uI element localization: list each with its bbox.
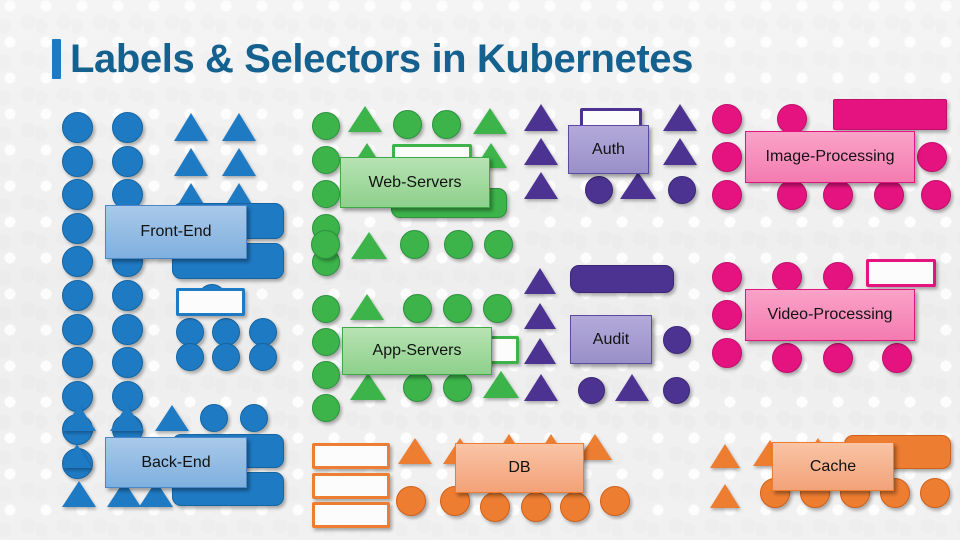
pink-circle-shape — [882, 343, 912, 373]
pink-circle-shape — [772, 343, 802, 373]
label-card-text: Back-End — [141, 454, 210, 472]
pink-circle-shape — [917, 142, 947, 172]
label-card-front-end[interactable]: Front-End — [105, 205, 247, 259]
blue-circle-shape — [176, 318, 204, 346]
label-card-text: Audit — [593, 331, 629, 349]
blue-circle-shape — [112, 146, 143, 177]
blue-circle-shape — [176, 343, 204, 371]
orange-outlined-rect-shape — [312, 473, 390, 499]
purple-triangle-shape — [663, 138, 697, 165]
orange-outlined-rect-shape — [312, 502, 390, 528]
blue-circle-shape — [62, 179, 93, 210]
pink-circle-shape — [712, 180, 742, 210]
green-circle-shape — [400, 230, 429, 259]
orange-circle-shape — [600, 486, 630, 516]
green-circle-shape — [444, 230, 473, 259]
blue-circle-shape — [249, 343, 277, 371]
blue-circle-shape — [112, 347, 143, 378]
purple-triangle-shape — [524, 268, 556, 294]
pink-circle-shape — [712, 338, 742, 368]
purple-circle-shape — [585, 176, 613, 204]
label-card-db[interactable]: DB — [455, 443, 584, 493]
green-circle-shape — [312, 295, 340, 323]
label-card-web-servers[interactable]: Web-Servers — [340, 157, 490, 208]
pink-circle-shape — [772, 262, 802, 292]
purple-circle-shape — [578, 377, 605, 404]
pink-circle-shape — [712, 142, 742, 172]
slide-canvas: Labels & Selectors in Kubernetes Front-E… — [0, 0, 960, 540]
green-circle-shape — [443, 373, 472, 402]
purple-circle-shape — [668, 176, 696, 204]
label-card-cache[interactable]: Cache — [772, 442, 894, 491]
blue-circle-shape — [62, 146, 93, 177]
green-circle-shape — [484, 230, 513, 259]
orange-circle-shape — [920, 478, 950, 508]
orange-circle-shape — [521, 492, 551, 522]
pink-circle-shape — [712, 104, 742, 134]
label-card-app-servers[interactable]: App-Servers — [342, 327, 492, 375]
pink-circle-shape — [823, 343, 853, 373]
label-card-auth[interactable]: Auth — [568, 125, 649, 174]
blue-circle-shape — [112, 280, 143, 311]
label-card-text: App-Servers — [373, 342, 462, 360]
green-circle-shape — [312, 394, 340, 422]
purple-triangle-shape — [524, 303, 556, 329]
orange-triangle-shape — [398, 438, 432, 464]
purple-filled-rect-shape — [570, 265, 674, 293]
green-circle-shape — [393, 110, 422, 139]
pink-circle-shape — [823, 180, 853, 210]
blue-circle-shape — [200, 404, 228, 432]
label-card-image-processing[interactable]: Image-Processing — [745, 131, 915, 183]
blue-circle-shape — [62, 112, 93, 143]
orange-outlined-rect-shape — [312, 443, 390, 469]
blue-circle-shape — [62, 246, 93, 277]
purple-triangle-shape — [524, 374, 558, 401]
blue-triangle-shape — [62, 405, 96, 431]
pink-circle-shape — [921, 180, 951, 210]
blue-outlined-rect-shape — [176, 288, 245, 316]
blue-circle-shape — [240, 404, 268, 432]
blue-circle-shape — [249, 318, 277, 346]
green-circle-shape — [312, 361, 340, 389]
pink-circle-shape — [712, 300, 742, 330]
blue-circle-shape — [62, 213, 93, 244]
title-text: Labels & Selectors in Kubernetes — [70, 39, 693, 79]
page-title: Labels & Selectors in Kubernetes — [52, 31, 912, 87]
pink-circle-shape — [777, 180, 807, 210]
blue-circle-shape — [62, 314, 93, 345]
purple-triangle-shape — [615, 374, 649, 401]
label-card-text: Image-Processing — [766, 148, 895, 166]
blue-circle-shape — [62, 347, 93, 378]
green-triangle-shape — [351, 232, 387, 259]
green-circle-shape — [311, 230, 340, 259]
orange-circle-shape — [396, 486, 426, 516]
purple-triangle-shape — [524, 104, 558, 131]
orange-triangle-shape — [710, 444, 740, 468]
purple-triangle-shape — [524, 338, 556, 364]
blue-triangle-shape — [222, 113, 256, 141]
blue-triangle-shape — [222, 148, 256, 176]
title-accent-bar — [52, 39, 61, 79]
pink-circle-shape — [777, 104, 807, 134]
label-card-text: Auth — [592, 141, 625, 159]
blue-triangle-shape — [62, 444, 92, 468]
label-card-text: DB — [508, 459, 530, 477]
pink-outlined-rect-shape — [866, 259, 936, 287]
blue-circle-shape — [212, 318, 240, 346]
green-triangle-shape — [350, 373, 386, 400]
green-triangle-shape — [350, 294, 384, 320]
green-triangle-shape — [348, 106, 382, 132]
purple-circle-shape — [663, 326, 691, 354]
green-circle-shape — [312, 328, 340, 356]
blue-triangle-shape — [174, 113, 208, 141]
orange-circle-shape — [480, 492, 510, 522]
green-circle-shape — [403, 294, 432, 323]
green-triangle-shape — [473, 108, 507, 134]
label-card-back-end[interactable]: Back-End — [105, 437, 247, 488]
label-card-text: Cache — [810, 458, 856, 476]
purple-triangle-shape — [524, 138, 558, 165]
blue-triangle-shape — [62, 481, 96, 507]
purple-triangle-shape — [663, 104, 697, 131]
purple-circle-shape — [663, 377, 690, 404]
green-circle-shape — [443, 294, 472, 323]
green-circle-shape — [483, 294, 512, 323]
green-circle-shape — [312, 180, 340, 208]
blue-triangle-shape — [155, 405, 189, 431]
pink-filled-rect-shape — [833, 99, 947, 130]
blue-circle-shape — [112, 314, 143, 345]
green-circle-shape — [432, 110, 461, 139]
orange-triangle-shape — [710, 484, 740, 508]
blue-circle-shape — [62, 280, 93, 311]
blue-circle-shape — [212, 343, 240, 371]
green-circle-shape — [403, 373, 432, 402]
blue-circle-shape — [112, 112, 143, 143]
green-circle-shape — [312, 112, 340, 140]
label-card-video-processing[interactable]: Video-Processing — [745, 289, 915, 341]
pink-circle-shape — [712, 262, 742, 292]
label-card-audit[interactable]: Audit — [570, 315, 652, 364]
pink-circle-shape — [823, 262, 853, 292]
pink-circle-shape — [874, 180, 904, 210]
label-card-text: Video-Processing — [767, 306, 892, 324]
blue-triangle-shape — [110, 405, 144, 431]
label-card-text: Front-End — [140, 223, 211, 241]
purple-triangle-shape — [620, 172, 656, 199]
blue-triangle-shape — [174, 148, 208, 176]
green-circle-shape — [312, 146, 340, 174]
label-card-text: Web-Servers — [368, 174, 461, 192]
orange-circle-shape — [560, 492, 590, 522]
green-triangle-shape — [483, 371, 519, 398]
purple-triangle-shape — [524, 172, 558, 199]
